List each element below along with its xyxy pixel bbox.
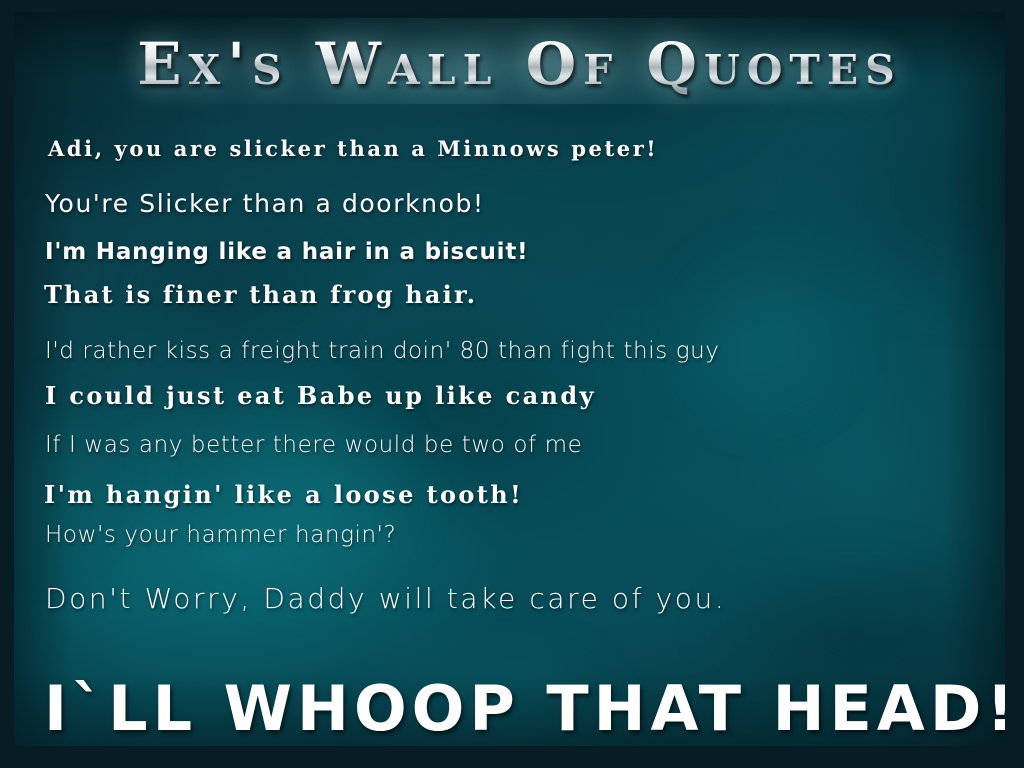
quote-line: That is finer than frog hair. bbox=[44, 280, 477, 309]
quote-line: I'm Hanging like a hair in a biscuit! bbox=[45, 239, 528, 265]
quote-line: I'd rather kiss a freight train doin' 80… bbox=[45, 338, 720, 364]
quote-line: You're Slicker than a doorknob! bbox=[45, 189, 485, 218]
quote-line: I could just eat Babe up like candy bbox=[45, 381, 596, 410]
quote-line: Don't Worry, Daddy will take care of you… bbox=[45, 582, 726, 615]
quote-poster: Ex's Wall Of Quotes Adi, you are slicker… bbox=[0, 0, 1024, 768]
quote-line: I'm hangin' like a loose tooth! bbox=[44, 480, 523, 509]
poster-canvas: Ex's Wall Of Quotes Adi, you are slicker… bbox=[14, 12, 1005, 746]
quote-line: Adi, you are slicker than a Minnows pete… bbox=[48, 136, 658, 161]
quote-line: If I was any better there would be two o… bbox=[45, 432, 582, 458]
quote-line: How's your hammer hangin'? bbox=[45, 522, 396, 548]
quote-list: Adi, you are slicker than a Minnows pete… bbox=[14, 12, 1005, 746]
shout-line: I`ll whoop that head! bbox=[44, 672, 1005, 745]
